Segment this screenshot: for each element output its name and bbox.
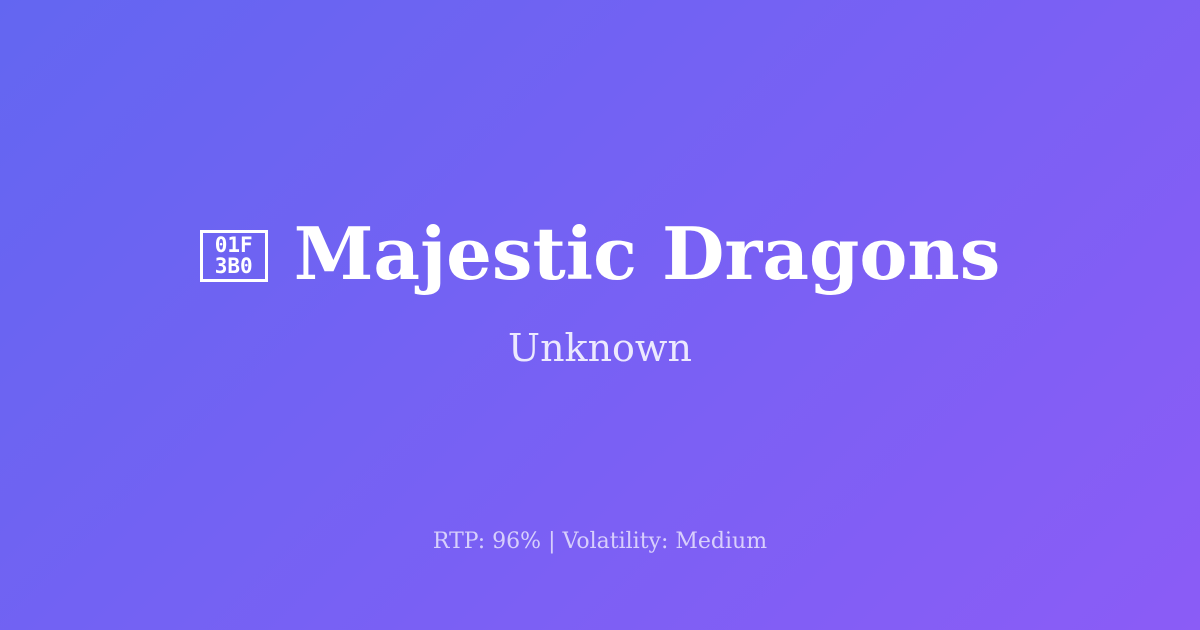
slot-machine-emoji-icon: 01F 3B0	[200, 230, 268, 282]
game-stats-footer: RTP: 96% | Volatility: Medium	[0, 528, 1200, 556]
page-title: 01F 3B0 Majestic Dragons	[200, 216, 1001, 292]
tofu-codepoint-top: 01F	[215, 235, 253, 256]
game-title-text: Majestic Dragons	[294, 216, 1001, 292]
game-provider-subtitle: Unknown	[508, 326, 692, 372]
og-preview-card: 01F 3B0 Majestic Dragons Unknown RTP: 96…	[0, 0, 1200, 630]
tofu-codepoint-bottom: 3B0	[215, 256, 253, 277]
